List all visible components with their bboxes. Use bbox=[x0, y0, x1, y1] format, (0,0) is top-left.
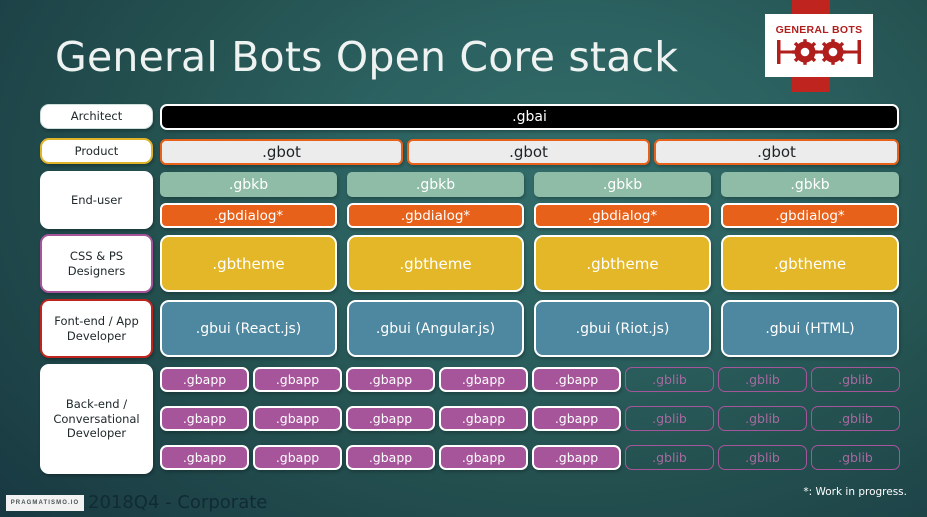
layer-label: .gbapp bbox=[276, 372, 319, 387]
layer-label: .gbui (Angular.js) bbox=[376, 321, 495, 337]
layer-label: .gblib bbox=[745, 450, 780, 465]
row-label-text-line2: Designers bbox=[68, 264, 126, 278]
layer-gbtheme-4: .gbtheme bbox=[721, 235, 899, 292]
layer-label: .gbapp bbox=[369, 450, 412, 465]
layer-gbkb-4: .gbkb bbox=[721, 172, 899, 197]
layer-gbapp: .gbapp bbox=[532, 367, 621, 392]
row-label-text-line2: Developer bbox=[54, 329, 139, 343]
layer-label: .gbapp bbox=[462, 450, 505, 465]
layer-label: .gbapp bbox=[369, 372, 412, 387]
layer-gbapp: .gbapp bbox=[253, 445, 342, 470]
layer-gblib: .gblib bbox=[811, 445, 900, 470]
layer-label: .gbui (Riot.js) bbox=[576, 321, 670, 337]
layer-label: .gblib bbox=[838, 450, 873, 465]
layer-label: .gbtheme bbox=[399, 255, 471, 273]
layer-label: .gbui (React.js) bbox=[196, 321, 301, 337]
layer-label: .gblib bbox=[838, 411, 873, 426]
layer-gbapp: .gbapp bbox=[160, 445, 249, 470]
layer-gbapp: .gbapp bbox=[346, 367, 435, 392]
layer-gbapp: .gbapp bbox=[253, 406, 342, 431]
layer-label: .gblib bbox=[745, 411, 780, 426]
layer-label: .gbkb bbox=[603, 177, 642, 193]
layer-label: .gbapp bbox=[183, 411, 226, 426]
layer-gbapp: .gbapp bbox=[253, 367, 342, 392]
layer-label: .gbapp bbox=[555, 450, 598, 465]
footer-edition: 2018Q4 - Corporate bbox=[88, 492, 267, 513]
layer-gblib: .gblib bbox=[625, 406, 714, 431]
row-label-text-line2: Conversational bbox=[53, 412, 139, 426]
layer-gbkb-3: .gbkb bbox=[534, 172, 711, 197]
layer-gbdialog-2: .gbdialog* bbox=[347, 203, 524, 228]
layer-gblib: .gblib bbox=[718, 406, 807, 431]
layer-gbui-react: .gbui (React.js) bbox=[160, 300, 337, 357]
row-label-text-line1: Back-end / bbox=[53, 397, 139, 411]
layer-label: .gblib bbox=[652, 450, 687, 465]
layer-label: .gbot bbox=[757, 143, 796, 161]
layer-label: .gbtheme bbox=[774, 255, 846, 273]
layer-gbot-1: .gbot bbox=[160, 139, 403, 165]
row-label-text-line3: Developer bbox=[53, 426, 139, 440]
layer-gblib: .gblib bbox=[718, 367, 807, 392]
layer-label: .gbot bbox=[262, 143, 301, 161]
layer-gbui-angular: .gbui (Angular.js) bbox=[347, 300, 524, 357]
row-label-end-user: End-user bbox=[40, 171, 153, 229]
layer-label: .gbapp bbox=[276, 411, 319, 426]
layer-label: .gblib bbox=[652, 411, 687, 426]
layer-label: .gbapp bbox=[369, 411, 412, 426]
row-label-text-line1: Font-end / App bbox=[54, 314, 139, 328]
layer-gblib: .gblib bbox=[625, 445, 714, 470]
layer-label: .gbapp bbox=[183, 450, 226, 465]
layer-gbapp: .gbapp bbox=[532, 445, 621, 470]
layer-label: .gbot bbox=[509, 143, 548, 161]
layer-gbapp: .gbapp bbox=[439, 445, 528, 470]
layer-gbapp: .gbapp bbox=[532, 406, 621, 431]
layer-gbdialog-3: .gbdialog* bbox=[534, 203, 711, 228]
layer-gbdialog-1: .gbdialog* bbox=[160, 203, 337, 228]
row-label-back-end-conversational-developer: Back-end / Conversational Developer bbox=[40, 364, 153, 474]
layer-label: .gblib bbox=[838, 372, 873, 387]
row-label-product: Product bbox=[40, 138, 153, 164]
row-label-front-end-app-developer: Font-end / App Developer bbox=[40, 299, 153, 358]
stack-diagram: Architect Product End-user CSS & PS Desi… bbox=[0, 0, 927, 517]
layer-gbui-riot: .gbui (Riot.js) bbox=[534, 300, 711, 357]
layer-gbapp: .gbapp bbox=[439, 367, 528, 392]
layer-label: .gbdialog* bbox=[588, 208, 657, 224]
layer-label: .gbkb bbox=[416, 177, 455, 193]
layer-label: .gbapp bbox=[555, 372, 598, 387]
slide-canvas: GENERAL BOTS bbox=[0, 0, 927, 517]
layer-gbdialog-4: .gbdialog* bbox=[721, 203, 899, 228]
layer-label: .gbdialog* bbox=[214, 208, 283, 224]
layer-gbkb-2: .gbkb bbox=[347, 172, 524, 197]
layer-label: .gblib bbox=[652, 372, 687, 387]
layer-gbapp: .gbapp bbox=[160, 367, 249, 392]
layer-gblib: .gblib bbox=[811, 406, 900, 431]
layer-label: .gbapp bbox=[555, 411, 598, 426]
row-label-architect: Architect bbox=[40, 104, 153, 129]
layer-label: .gbapp bbox=[183, 372, 226, 387]
row-label-text-line1: CSS & PS bbox=[68, 249, 126, 263]
row-label-text: Architect bbox=[71, 109, 123, 123]
layer-label: .gbui (HTML) bbox=[765, 321, 854, 337]
layer-gbapp: .gbapp bbox=[346, 445, 435, 470]
layer-gbot-3: .gbot bbox=[654, 139, 899, 165]
layer-gbkb-1: .gbkb bbox=[160, 172, 337, 197]
layer-gbai: .gbai bbox=[160, 104, 899, 130]
layer-gbapp: .gbapp bbox=[346, 406, 435, 431]
layer-label: .gbkb bbox=[790, 177, 829, 193]
row-label-css-ps-designers: CSS & PS Designers bbox=[40, 234, 153, 293]
layer-gblib: .gblib bbox=[811, 367, 900, 392]
layer-label: .gbdialog* bbox=[401, 208, 470, 224]
layer-gbtheme-2: .gbtheme bbox=[347, 235, 524, 292]
layer-gblib: .gblib bbox=[718, 445, 807, 470]
row-label-text: End-user bbox=[71, 193, 122, 207]
layer-label: .gbtheme bbox=[212, 255, 284, 273]
layer-label: .gblib bbox=[745, 372, 780, 387]
layer-gblib: .gblib bbox=[625, 367, 714, 392]
layer-gbtheme-1: .gbtheme bbox=[160, 235, 337, 292]
row-label-text: Product bbox=[75, 144, 119, 158]
footer-work-in-progress-note: *: Work in progress. bbox=[803, 486, 907, 498]
layer-gbot-2: .gbot bbox=[407, 139, 650, 165]
layer-label: .gbai bbox=[512, 109, 547, 125]
layer-label: .gbapp bbox=[276, 450, 319, 465]
layer-label: .gbkb bbox=[229, 177, 268, 193]
layer-label: .gbapp bbox=[462, 372, 505, 387]
layer-label: .gbtheme bbox=[586, 255, 658, 273]
layer-label: .gbapp bbox=[462, 411, 505, 426]
layer-gbtheme-3: .gbtheme bbox=[534, 235, 711, 292]
layer-label: .gbdialog* bbox=[775, 208, 844, 224]
pragmatismo-logo-text: PRAGMATISMO.IO bbox=[11, 500, 80, 506]
layer-gbui-html: .gbui (HTML) bbox=[721, 300, 899, 357]
pragmatismo-logo: PRAGMATISMO.IO bbox=[6, 495, 84, 511]
layer-gbapp: .gbapp bbox=[160, 406, 249, 431]
layer-gbapp: .gbapp bbox=[439, 406, 528, 431]
